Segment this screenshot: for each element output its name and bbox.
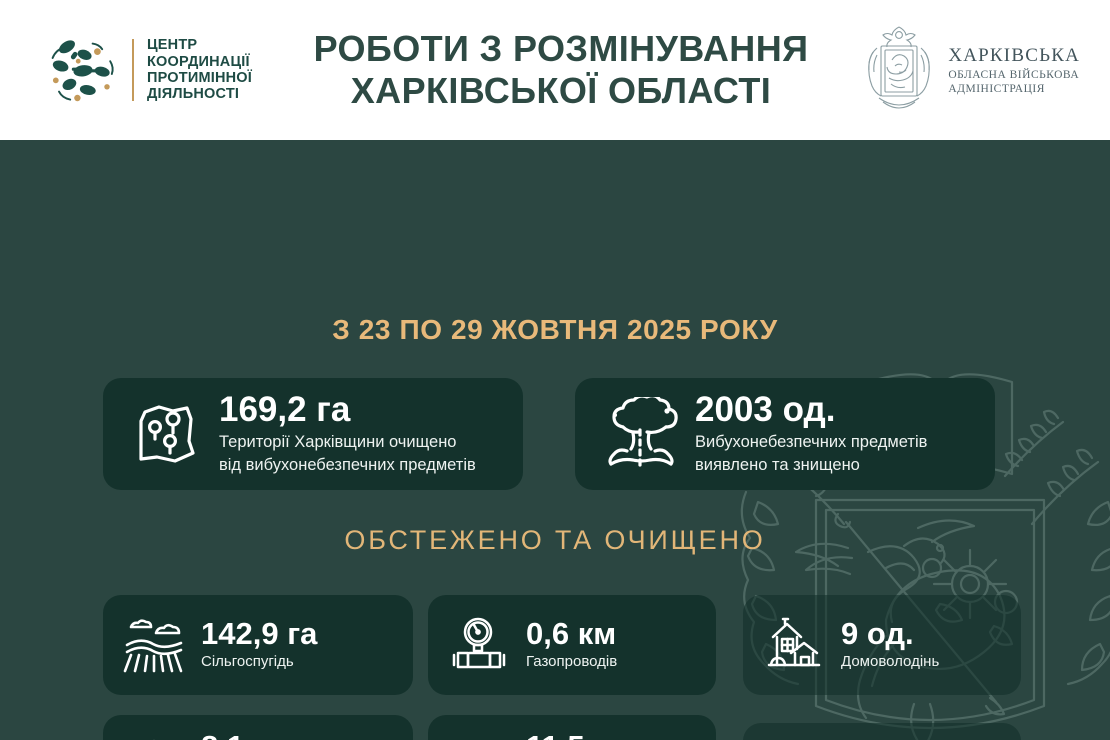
house-icon xyxy=(763,615,825,675)
stat-value: 11,5 км xyxy=(526,731,686,740)
page-title-line-2: ХАРКІВСЬКОЇ ОБЛАСТІ xyxy=(292,70,830,112)
farmland-field-icon xyxy=(123,615,185,675)
oblast-wordmark: ХАРКІВСЬКА ОБЛАСНА ВІЙСЬКОВА АДМІНІСТРАЦ… xyxy=(948,44,1080,97)
stat-value: 0,6 км xyxy=(526,618,617,651)
brand-wordmark: ЦЕНТР КООРДИНАЦІЇ ПРОТИМІННОЇ ДІЯЛЬНОСТІ xyxy=(147,37,252,103)
stat-card-power-lines: 8,1 км Ліній електропередач (ЛЕП) xyxy=(103,715,413,740)
stat-label-line-1: Сільгоспугідь xyxy=(201,653,317,672)
stat-label-line-1: Газопроводів xyxy=(526,653,617,672)
stat-card-devices-destroyed: 2003 од. Вибухонебезпечних предметів вия… xyxy=(575,378,995,490)
stat-card-gas-pipelines: 0,6 км Газопроводів xyxy=(428,595,716,695)
brand-line-1: ЦЕНТР xyxy=(147,37,252,53)
brand-line-3: ПРОТИМІННОЇ xyxy=(147,70,252,86)
stat-card-objects: 6 од. Об'єктів xyxy=(743,723,1021,740)
stat-card-text: 8,1 км Ліній електропередач (ЛЕП) xyxy=(201,731,351,740)
stat-card-agricultural-land: 142,9 га Сільгоспугідь xyxy=(103,595,413,695)
brand-line-2: КООРДИНАЦІЇ xyxy=(147,54,252,70)
kharkiv-oblast-coat-of-arms-icon xyxy=(859,22,939,118)
oblast-line-3: АДМІНІСТРАЦІЯ xyxy=(948,82,1080,96)
stat-label-line-1: Вибухонебезпечних предметів xyxy=(695,432,927,453)
stat-value: 2003 од. xyxy=(695,392,927,429)
oblast-administration-logo: ХАРКІВСЬКА ОБЛАСНА ВІЙСЬКОВА АДМІНІСТРАЦ… xyxy=(830,22,1080,118)
date-range-heading: З 23 ПО 29 ЖОВТНЯ 2025 РОКУ xyxy=(0,314,1110,346)
network-nodes-logo-icon xyxy=(42,34,124,106)
stat-card-text: 9 од. Домоволодінь xyxy=(841,618,939,672)
stat-card-roads: 11,5 км Ділянок автомобільних доріг xyxy=(428,715,716,740)
stat-value: 142,9 га xyxy=(201,618,317,651)
stat-card-area-cleared: 169,2 га Території Харківщини очищено ві… xyxy=(103,378,523,490)
page-title-line-1: РОБОТИ З РОЗМІНУВАННЯ xyxy=(292,28,830,70)
brand-line-4: ДІЯЛЬНОСТІ xyxy=(147,86,252,102)
page-header: ЦЕНТР КООРДИНАЦІЇ ПРОТИМІННОЇ ДІЯЛЬНОСТІ… xyxy=(0,0,1110,140)
brand-divider xyxy=(132,39,134,101)
stat-card-text: 0,6 км Газопроводів xyxy=(526,618,617,672)
stat-value: 9 од. xyxy=(841,618,939,651)
page-title: РОБОТИ З РОЗМІНУВАННЯ ХАРКІВСЬКОЇ ОБЛАСТ… xyxy=(282,28,830,112)
stat-card-text: 142,9 га Сільгоспугідь xyxy=(201,618,317,672)
oblast-line-1: ХАРКІВСЬКА xyxy=(948,44,1080,68)
stat-card-text: 2003 од. Вибухонебезпечних предметів вия… xyxy=(695,392,927,476)
infographic-page: ЦЕНТР КООРДИНАЦІЇ ПРОТИМІННОЇ ДІЯЛЬНОСТІ… xyxy=(0,0,1110,740)
stat-card-text: 11,5 км Ділянок автомобільних доріг xyxy=(526,731,686,740)
oblast-line-2: ОБЛАСНА ВІЙСЬКОВА xyxy=(948,68,1080,82)
stat-label-line-1: Території Харківщини очищено xyxy=(219,432,476,453)
stat-label-line-2: від вибухонебезпечних предметів xyxy=(219,455,476,476)
infographic-body: З 23 ПО 29 ЖОВТНЯ 2025 РОКУ 1 xyxy=(0,140,1110,740)
section-heading: ОБСТЕЖЕНО ТА ОЧИЩЕНО xyxy=(0,525,1110,556)
explosion-cloud-icon xyxy=(601,397,679,471)
stat-value: 169,2 га xyxy=(219,392,476,429)
brand-logo: ЦЕНТР КООРДИНАЦІЇ ПРОТИМІННОЇ ДІЯЛЬНОСТІ xyxy=(42,34,282,106)
stat-label-line-1: Домоволодінь xyxy=(841,653,939,672)
stat-value: 8,1 км xyxy=(201,731,351,740)
stat-card-households: 9 од. Домоволодінь xyxy=(743,595,1021,695)
stat-label-line-2: виявлено та знищено xyxy=(695,455,927,476)
stat-card-text: 169,2 га Території Харківщини очищено ві… xyxy=(219,392,476,476)
gas-pipeline-gauge-icon xyxy=(448,615,510,675)
map-with-pins-icon xyxy=(129,397,203,471)
